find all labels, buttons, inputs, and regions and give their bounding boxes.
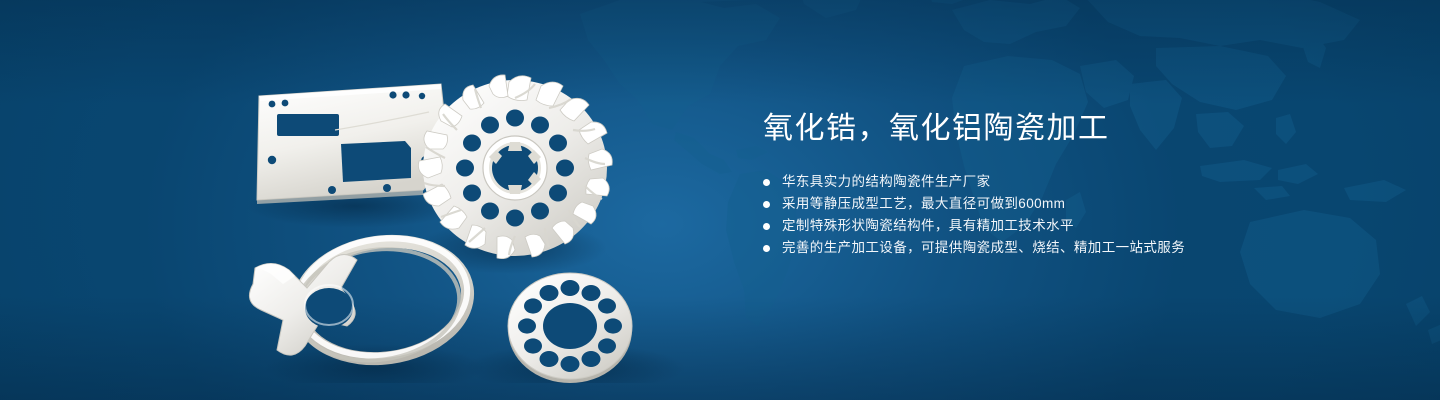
ceramic-products-image <box>215 38 715 383</box>
feature-text: 定制特殊形状陶瓷结构件，具有精加工技术水平 <box>782 215 1074 237</box>
feature-list: 华东具实力的结构陶瓷件生产厂家 采用等静压成型工艺，最大直径可做到600mm 定… <box>763 171 1363 259</box>
bullet-dot-icon <box>763 223 770 230</box>
banner-copy: 氧化锆，氧化铝陶瓷加工 华东具实力的结构陶瓷件生产厂家 采用等静压成型工艺，最大… <box>763 110 1363 259</box>
feature-text: 华东具实力的结构陶瓷件生产厂家 <box>782 171 991 193</box>
bullet-dot-icon <box>763 179 770 186</box>
list-item: 华东具实力的结构陶瓷件生产厂家 <box>763 171 1363 193</box>
ceramic-perforated-disc <box>508 273 632 383</box>
feature-text: 采用等静压成型工艺，最大直径可做到600mm <box>782 193 1065 215</box>
banner-headline: 氧化锆，氧化铝陶瓷加工 <box>763 110 1363 148</box>
hero-banner: 氧化锆，氧化铝陶瓷加工 华东具实力的结构陶瓷件生产厂家 采用等静压成型工艺，最大… <box>0 0 1440 400</box>
ceramic-mounting-plate <box>257 84 449 204</box>
list-item: 完善的生产加工设备，可提供陶瓷成型、烧结、精加工一站式服务 <box>763 237 1363 259</box>
bullet-dot-icon <box>763 245 770 252</box>
list-item: 采用等静压成型工艺，最大直径可做到600mm <box>763 193 1363 215</box>
bullet-dot-icon <box>763 201 770 208</box>
feature-text: 完善的生产加工设备，可提供陶瓷成型、烧结、精加工一站式服务 <box>782 237 1185 259</box>
ceramic-cross-shaped-part <box>249 254 357 355</box>
list-item: 定制特殊形状陶瓷结构件，具有精加工技术水平 <box>763 215 1363 237</box>
